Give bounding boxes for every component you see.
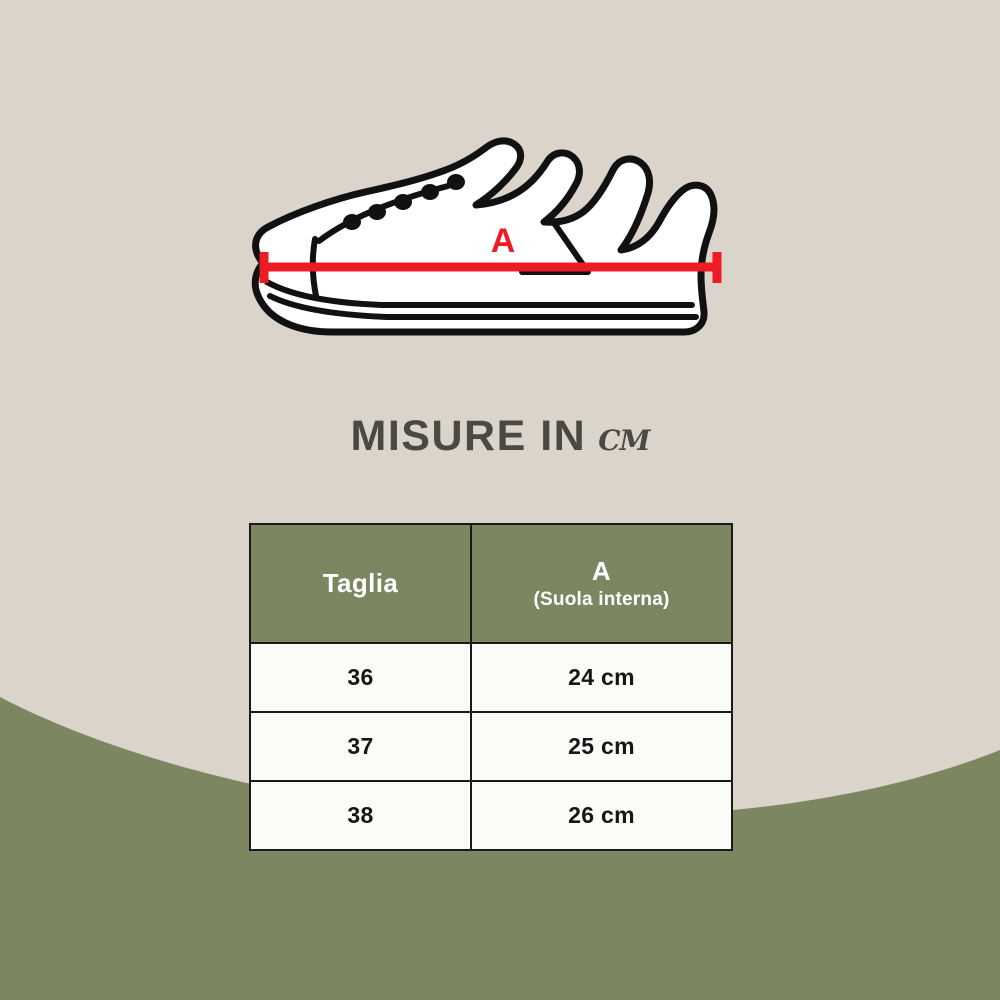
eyelet-icon — [368, 204, 386, 220]
eyelet-icon — [343, 214, 361, 230]
table-row: 36 24 cm — [250, 643, 732, 712]
cell-length: 26 cm — [471, 781, 732, 850]
cell-size: 36 — [250, 643, 471, 712]
table-row: 37 25 cm — [250, 712, 732, 781]
eyelet-icon — [394, 194, 412, 210]
cell-length: 25 cm — [471, 712, 732, 781]
column-header-taglia: Taglia — [250, 524, 471, 643]
size-chart-graphic: A MISURE INcm Taglia A (Suola interna) 3… — [0, 0, 1000, 1000]
column-header-a: A (Suola interna) — [471, 524, 732, 643]
sneaker-illustration: A — [222, 100, 762, 350]
cell-length: 24 cm — [471, 643, 732, 712]
size-table-body: 36 24 cm 37 25 cm 38 26 cm — [250, 643, 732, 850]
page-title: MISURE INcm — [0, 412, 1000, 461]
page-title-unit: cm — [598, 413, 649, 460]
page-title-main: MISURE IN — [351, 412, 587, 460]
eyelet-icon — [447, 174, 465, 190]
column-header-a-label: A — [472, 556, 731, 587]
measure-label-a: A — [491, 222, 516, 260]
table-header-row: Taglia A (Suola interna) — [250, 524, 732, 643]
table-row: 38 26 cm — [250, 781, 732, 850]
size-table-head: Taglia A (Suola interna) — [250, 524, 732, 643]
cell-size: 38 — [250, 781, 471, 850]
column-header-taglia-label: Taglia — [251, 568, 470, 599]
size-table: Taglia A (Suola interna) 36 24 cm 37 25 … — [249, 523, 733, 851]
column-header-a-sublabel: (Suola interna) — [472, 589, 731, 611]
cell-size: 37 — [250, 712, 471, 781]
eyelet-icon — [421, 184, 439, 200]
